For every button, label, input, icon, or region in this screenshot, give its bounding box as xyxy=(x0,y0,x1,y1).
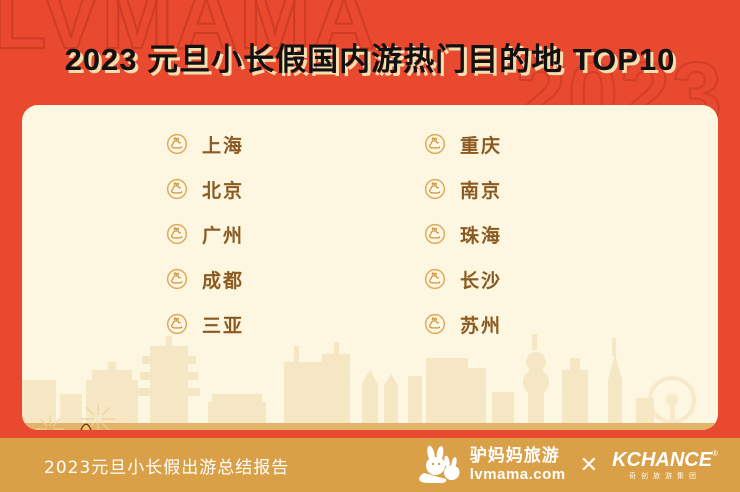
registered-mark-icon: ® xyxy=(712,450,718,458)
lvmama-logo[interactable]: 驴妈妈旅游 lvmama.com xyxy=(416,445,566,485)
destination-column-right: 重庆 南京 xyxy=(424,131,574,337)
list-item[interactable]: 长沙 xyxy=(424,266,574,292)
infographic-canvas: LVMAMA 2023 2023 元旦小长假国内游热门目的地 TOP10 xyxy=(0,0,740,492)
rabbit-circle-icon xyxy=(166,178,188,200)
list-item[interactable]: 南京 xyxy=(424,176,574,202)
page-title: 2023 元旦小长假国内游热门目的地 TOP10 xyxy=(0,34,740,79)
city-name: 北京 xyxy=(202,176,244,203)
list-item[interactable]: 三亚 xyxy=(166,311,316,337)
rabbit-circle-icon xyxy=(424,313,446,335)
lvmama-logo-en: lvmama.com xyxy=(470,467,566,482)
city-name: 三亚 xyxy=(202,311,244,338)
city-name: 苏州 xyxy=(460,311,502,338)
city-name: 长沙 xyxy=(460,266,502,293)
list-item[interactable]: 苏州 xyxy=(424,311,574,337)
rabbit-circle-icon xyxy=(166,313,188,335)
city-name: 广州 xyxy=(202,221,244,248)
firework-burst-icon xyxy=(36,405,150,430)
destination-column-left: 上海 北京 xyxy=(166,131,316,337)
rabbit-circle-icon xyxy=(166,133,188,155)
kchance-logo-cn: 奇创旅游集团 xyxy=(629,473,701,480)
logo-separator-icon: ✕ xyxy=(580,452,598,478)
list-item[interactable]: 北京 xyxy=(166,176,316,202)
city-name: 上海 xyxy=(202,131,244,158)
list-item[interactable]: 成都 xyxy=(166,266,316,292)
city-name: 南京 xyxy=(460,176,502,203)
kchance-logo-text: KCHANCE xyxy=(612,450,712,470)
footer-bar: 2023元旦小长假出游总结报告 xyxy=(0,438,740,492)
logo-group: 驴妈妈旅游 lvmama.com ✕ KCHANCE ® 奇创旅游集团 xyxy=(416,445,718,485)
list-item[interactable]: 上海 xyxy=(166,131,316,157)
city-name: 重庆 xyxy=(460,131,502,158)
rabbit-circle-icon xyxy=(166,268,188,290)
list-item[interactable]: 重庆 xyxy=(424,131,574,157)
rabbit-circle-icon xyxy=(166,223,188,245)
destination-list: 上海 北京 xyxy=(22,131,718,337)
city-name: 成都 xyxy=(202,266,244,293)
report-title: 2023元旦小长假出游总结报告 xyxy=(44,453,289,478)
lvmama-logo-cn: 驴妈妈旅游 xyxy=(470,448,566,465)
list-item[interactable]: 广州 xyxy=(166,221,316,247)
rabbit-circle-icon xyxy=(424,133,446,155)
rabbit-pair-icon xyxy=(416,445,464,485)
rabbit-with-parachute-illustration xyxy=(28,405,178,430)
rabbit-circle-icon xyxy=(424,223,446,245)
city-name: 珠海 xyxy=(460,221,502,248)
rabbit-circle-icon xyxy=(424,178,446,200)
kchance-logo[interactable]: KCHANCE ® 奇创旅游集团 xyxy=(612,450,718,480)
rabbit-circle-icon xyxy=(424,268,446,290)
content-card: 上海 北京 xyxy=(22,105,718,430)
list-item[interactable]: 珠海 xyxy=(424,221,574,247)
